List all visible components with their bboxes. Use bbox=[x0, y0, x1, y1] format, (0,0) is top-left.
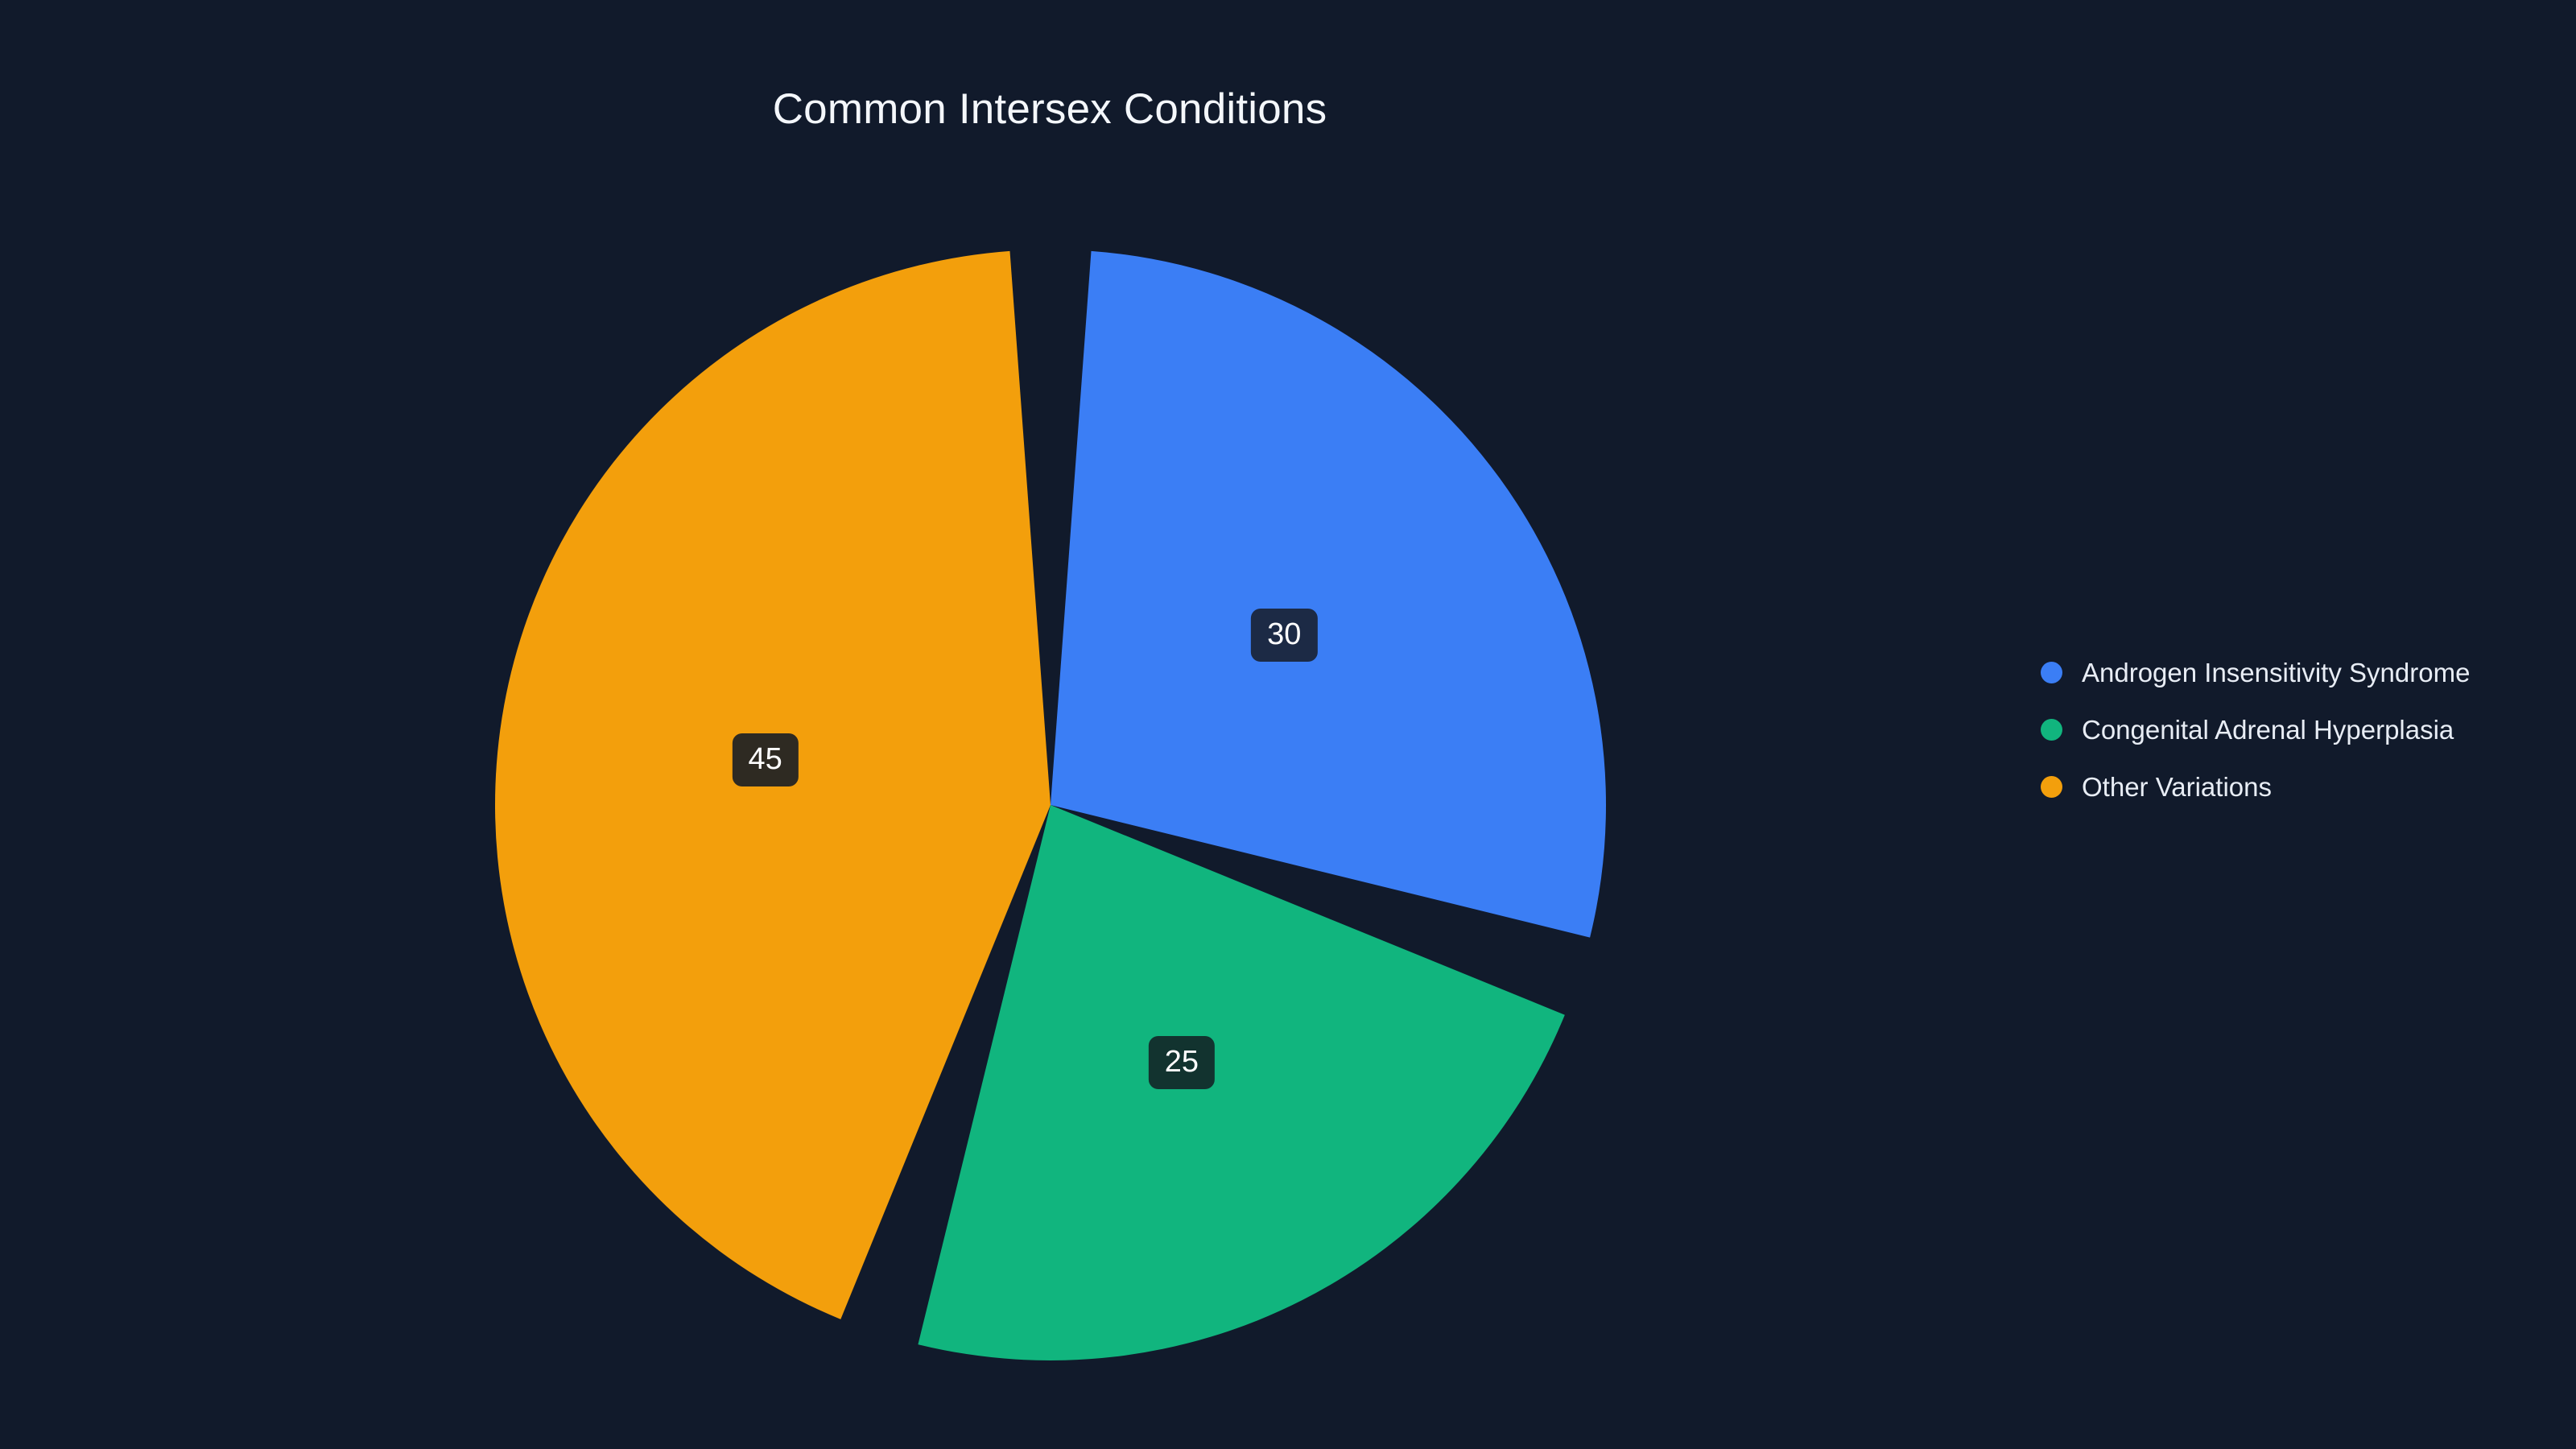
legend-item-congenital-adrenal-hyperplasia[interactable]: Congenital Adrenal Hyperplasia bbox=[2041, 701, 2470, 758]
legend-item-label: Congenital Adrenal Hyperplasia bbox=[2082, 716, 2454, 745]
legend-swatch-icon bbox=[2041, 776, 2062, 798]
pie-slice-value-label: 25 bbox=[1149, 1036, 1215, 1089]
pie-slice-value-label: 45 bbox=[732, 733, 798, 786]
legend-item-label: Other Variations bbox=[2082, 773, 2272, 802]
legend-item-other-variations[interactable]: Other Variations bbox=[2041, 758, 2470, 815]
pie-chart-figure: Common Intersex Conditions 30 25 45 Andr… bbox=[0, 0, 2576, 1449]
chart-legend: Androgen Insensitivity Syndrome Congenit… bbox=[2041, 644, 2470, 815]
legend-item-androgen-insensitivity-syndrome[interactable]: Androgen Insensitivity Syndrome bbox=[2041, 644, 2470, 701]
legend-swatch-icon bbox=[2041, 719, 2062, 741]
pie-slice-androgen-insensitivity-syndrome[interactable] bbox=[1051, 251, 1606, 938]
legend-item-label: Androgen Insensitivity Syndrome bbox=[2082, 658, 2470, 687]
legend-swatch-icon bbox=[2041, 662, 2062, 683]
pie-slice-value-label: 30 bbox=[1251, 609, 1317, 662]
